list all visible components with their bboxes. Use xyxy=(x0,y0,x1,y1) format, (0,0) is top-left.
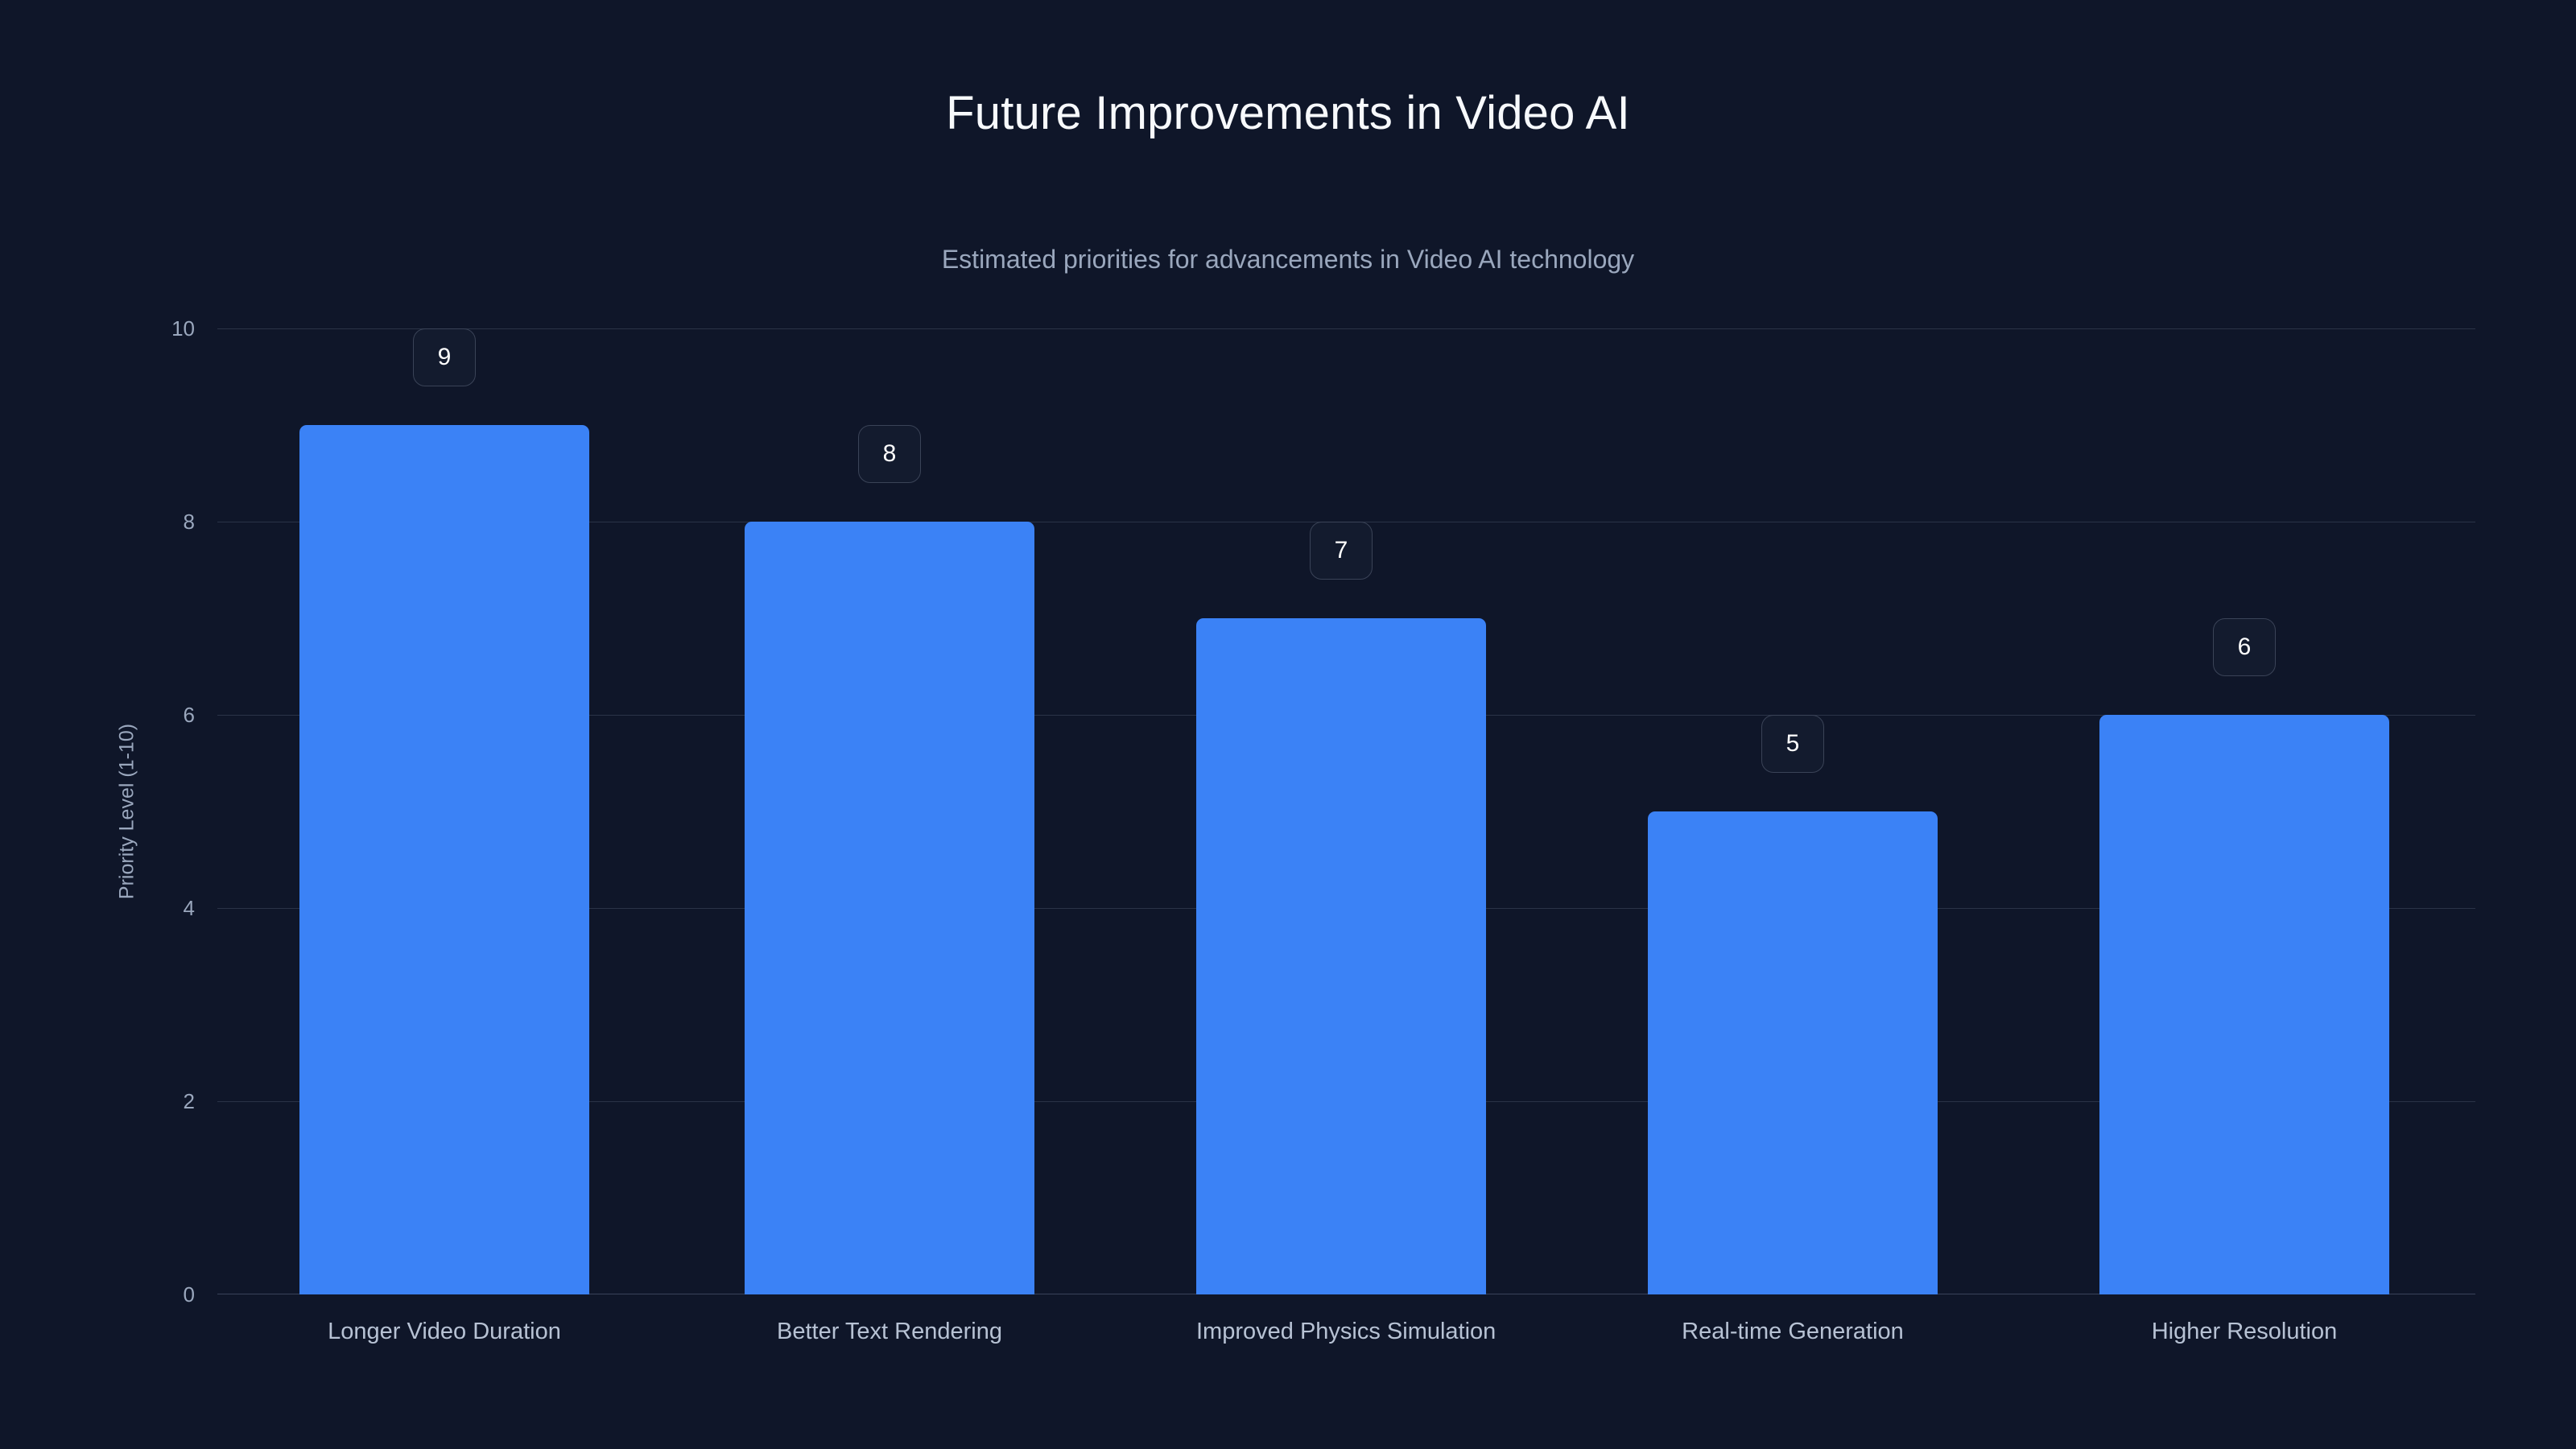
y-tick-8: 8 xyxy=(137,511,195,532)
x-label-higher-resolution: Higher Resolution xyxy=(2099,1320,2389,1344)
y-tick-4: 4 xyxy=(137,898,195,919)
x-axis-labels: Longer Video Duration Better Text Render… xyxy=(217,1320,2475,1356)
chart-subtitle: Estimated priorities for advancements in… xyxy=(0,246,2576,272)
bar-group-longer-video-duration[interactable]: 9 xyxy=(299,328,589,1294)
bar-higher-resolution[interactable] xyxy=(2099,715,2389,1294)
value-badge-improved-physics-simulation: 7 xyxy=(1310,522,1373,580)
bar-group-better-text-rendering[interactable]: 8 xyxy=(745,328,1034,1294)
bar-group-real-time-generation[interactable]: 5 xyxy=(1648,328,1938,1294)
x-label-longer-video-duration: Longer Video Duration xyxy=(299,1320,589,1344)
bars-layer: 9 8 7 5 6 xyxy=(217,328,2475,1294)
bar-better-text-rendering[interactable] xyxy=(745,522,1034,1294)
x-label-better-text-rendering: Better Text Rendering xyxy=(745,1320,1034,1344)
bar-longer-video-duration[interactable] xyxy=(299,425,589,1294)
value-badge-real-time-generation: 5 xyxy=(1761,715,1824,773)
x-label-improved-physics-simulation: Improved Physics Simulation xyxy=(1196,1320,1486,1344)
bar-real-time-generation[interactable] xyxy=(1648,811,1938,1294)
bar-improved-physics-simulation[interactable] xyxy=(1196,618,1486,1294)
bar-group-higher-resolution[interactable]: 6 xyxy=(2099,328,2389,1294)
bar-chart: Future Improvements in Video AI Estimate… xyxy=(0,0,2576,1449)
y-axis-ticks: 10 8 6 4 2 0 xyxy=(137,328,195,1294)
y-axis-title-text: Priority Level (1-10) xyxy=(118,724,138,899)
x-label-real-time-generation: Real-time Generation xyxy=(1648,1320,1938,1344)
chart-title: Future Improvements in Video AI xyxy=(0,90,2576,137)
y-tick-10: 10 xyxy=(137,318,195,339)
y-tick-0: 0 xyxy=(137,1284,195,1305)
value-badge-better-text-rendering: 8 xyxy=(858,425,921,483)
bar-group-improved-physics-simulation[interactable]: 7 xyxy=(1196,328,1486,1294)
y-tick-2: 2 xyxy=(137,1091,195,1112)
value-badge-higher-resolution: 6 xyxy=(2213,618,2276,676)
value-badge-longer-video-duration: 9 xyxy=(413,328,476,386)
y-tick-6: 6 xyxy=(137,704,195,725)
